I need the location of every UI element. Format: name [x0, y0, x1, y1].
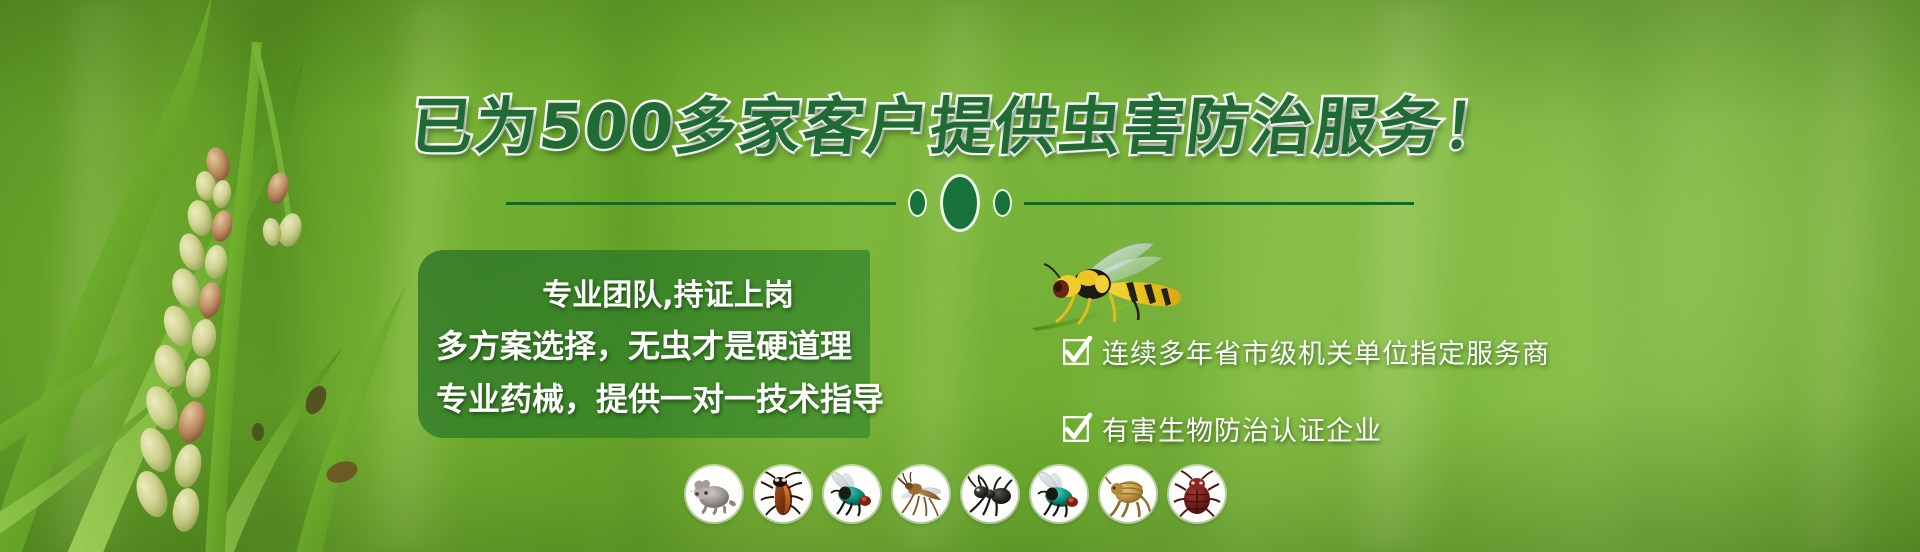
check-mark-icon — [1063, 416, 1089, 442]
pest-icon-flea[interactable] — [1100, 466, 1156, 522]
pest-icon-strip — [686, 466, 1225, 522]
divider-line-left — [506, 202, 896, 205]
slogan-line-3: 专业药械，提供一对一技术指导 — [436, 374, 852, 420]
slogan-panel: 专业团队,持证上岗 多方案选择，无虫才是硬道理 专业药械，提供一对一技术指导 — [418, 250, 870, 438]
list-item: 连续多年省市级机关单位指定服务商 — [1063, 332, 1550, 371]
slogan-line-1: 专业团队,持证上岗 — [436, 270, 852, 314]
ornament-dot-right-icon — [995, 191, 1010, 215]
greenbottle-fly-icon — [1035, 470, 1083, 518]
ant-icon — [966, 470, 1014, 518]
list-item-label: 连续多年省市级机关单位指定服务商 — [1102, 332, 1550, 371]
ornament-divider — [0, 180, 1920, 226]
pest-icon-rat[interactable] — [686, 466, 742, 522]
divider-line-right — [1024, 202, 1414, 205]
pest-icon-blowfly[interactable] — [824, 466, 880, 522]
list-item-label: 有害生物防治认证企业 — [1102, 409, 1382, 448]
promo-banner: 已为500多家客户提供虫害防治服务！ 专业团队,持证上岗 多方案选择，无虫才是硬… — [0, 0, 1920, 552]
blowfly-icon — [828, 470, 876, 518]
check-mark-icon — [1063, 339, 1089, 365]
mosquito-icon — [897, 470, 945, 518]
pest-icon-cockroach[interactable] — [755, 466, 811, 522]
divider-dot-group — [910, 177, 1010, 229]
cockroach-icon — [759, 470, 807, 518]
pest-icon-mosquito[interactable] — [893, 466, 949, 522]
bedbug-icon — [1173, 470, 1221, 518]
rat-icon — [690, 470, 738, 518]
wasp-on-leaf-photo — [1030, 232, 1210, 322]
pest-icon-ant[interactable] — [962, 466, 1018, 522]
flea-icon — [1104, 470, 1152, 518]
list-item: 有害生物防治认证企业 — [1063, 409, 1550, 448]
ornament-dot-center-icon — [943, 177, 977, 229]
credentials-checklist: 连续多年省市级机关单位指定服务商 有害生物防治认证企业 — [1063, 332, 1550, 448]
ornament-dot-left-icon — [910, 191, 925, 215]
pest-icon-greenbottle-fly[interactable] — [1031, 466, 1087, 522]
slogan-line-2: 多方案选择，无虫才是硬道理 — [436, 321, 852, 367]
pest-icon-bedbug[interactable] — [1169, 466, 1225, 522]
